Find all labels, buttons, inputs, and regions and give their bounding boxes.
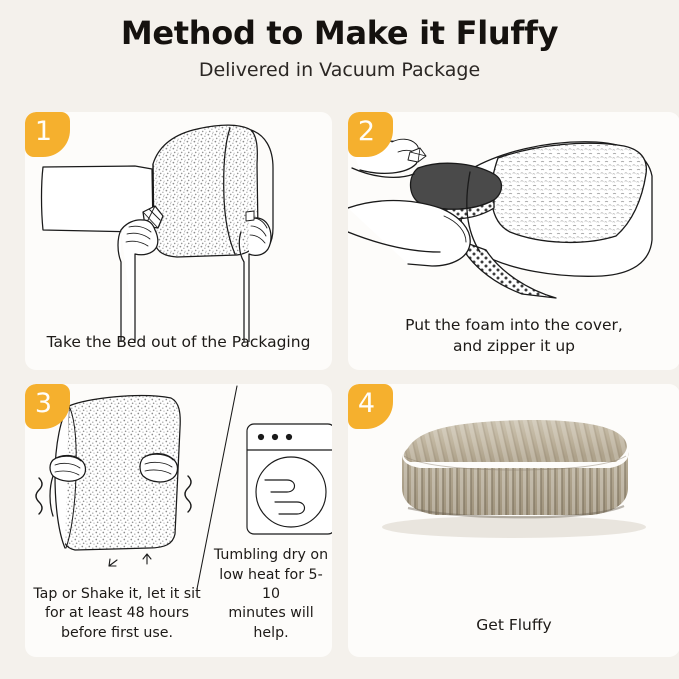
illustration-take-bed-out-of-packaging xyxy=(25,112,332,342)
step-caption-4: Get Fluffy xyxy=(348,615,679,635)
page-header: Method to Make it Fluffy Delivered in Va… xyxy=(0,16,679,81)
illustration-put-foam-into-cover xyxy=(348,112,679,327)
step-caption-1: Take the Bed out of the Packaging xyxy=(25,332,332,352)
steps-grid: 1 Take the Bed out of the Packaging xyxy=(25,112,655,657)
step-card-4: 4 Get Fluffy xyxy=(348,384,679,657)
page-title: Method to Make it Fluffy xyxy=(0,16,679,51)
page-subtitle: Delivered in Vacuum Package xyxy=(0,60,679,81)
illustration-corduroy-dog-bed xyxy=(348,384,679,599)
step-card-1: 1 Take the Bed out of the Packaging xyxy=(25,112,332,370)
step-caption-3-right: Tumbling dry on low heat for 5-10 minute… xyxy=(213,546,329,643)
step-caption-3-left: Tap or Shake it, let it sit for at least… xyxy=(29,585,205,643)
step-card-3: 3 Tap or Shake it, let it sit for at lea… xyxy=(25,384,332,657)
step-card-2: 2 Put the foam into the cover, and zippe… xyxy=(348,112,679,370)
step-caption-2: Put the foam into the cover, and zipper … xyxy=(348,315,679,356)
